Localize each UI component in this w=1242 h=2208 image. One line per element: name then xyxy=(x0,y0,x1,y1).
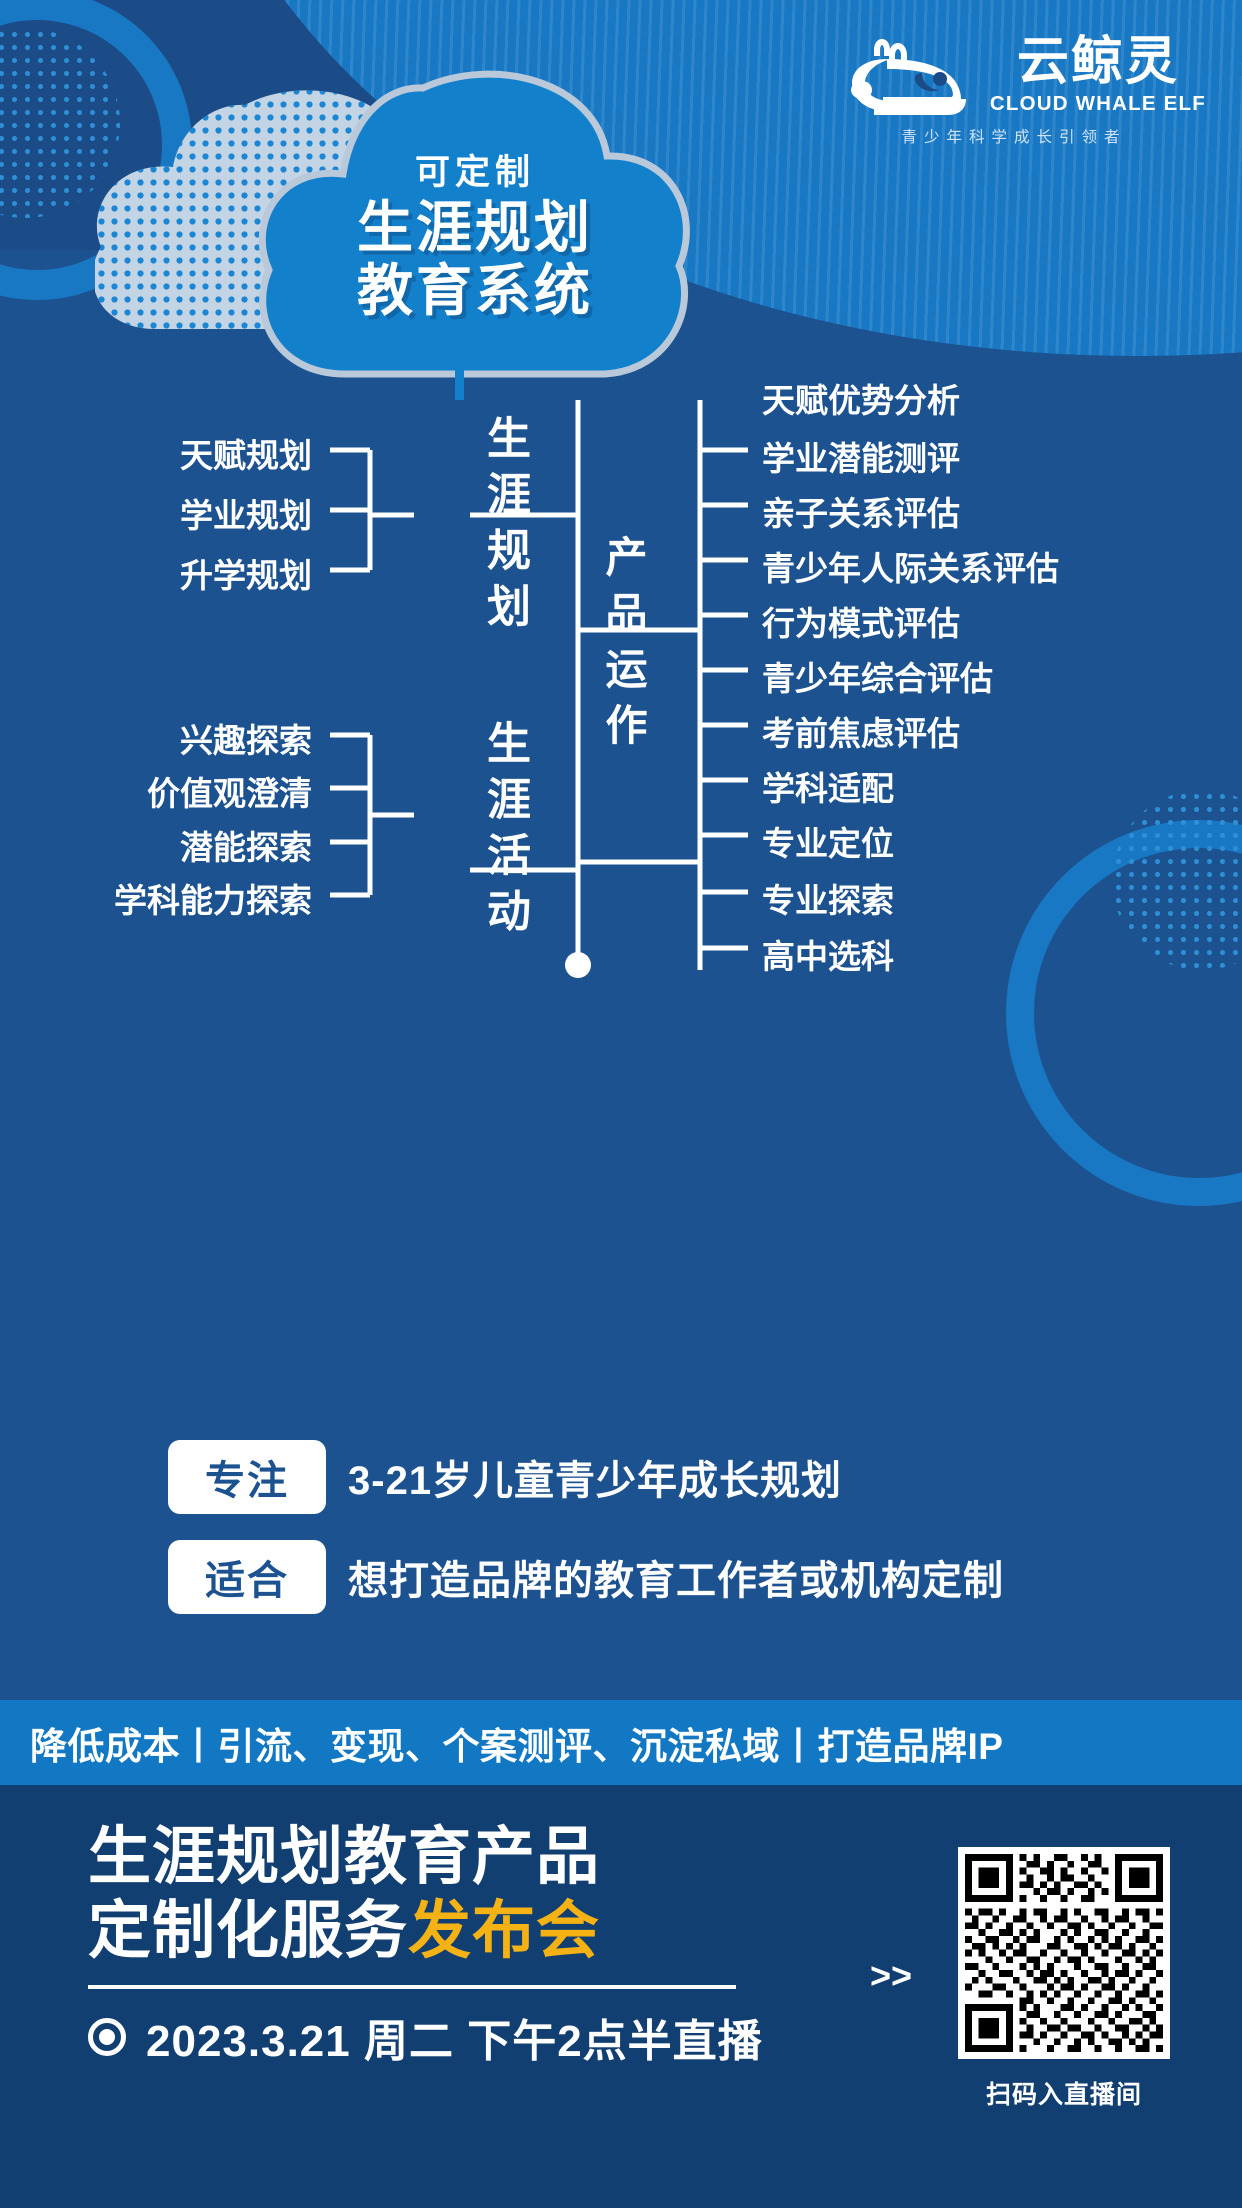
arrows-icon: >> xyxy=(870,1955,912,1997)
badge-text-audience: 想打造品牌的教育工作者或机构定制 xyxy=(348,1548,1004,1606)
tree-item-activity-2: 价值观澄清 xyxy=(147,767,312,815)
whale-icon xyxy=(848,37,976,115)
event-footer: 生涯规划教育产品 定制化服务发布会 2023.3.21 周二 下午2点半直播 >… xyxy=(0,1785,1242,2208)
tree-node-activity: 生涯活动 xyxy=(482,720,526,944)
cloud-title: 生涯规划 教育系统 xyxy=(255,198,695,323)
tree-item-career-1: 天赋规划 xyxy=(180,429,312,477)
badge-row-audience: 适合 想打造品牌的教育工作者或机构定制 xyxy=(168,1540,1242,1614)
tree-item-product-9: 专业定位 xyxy=(762,817,894,865)
badge-chip-focus: 专注 xyxy=(168,1440,326,1514)
cloud-title-line1: 生涯规划 xyxy=(255,198,695,261)
tree-item-product-11: 高中选科 xyxy=(762,930,894,978)
career-tree-diagram: 天赋规划 学业规划 升学规划 兴趣探索 价值观澄清 潜能探索 学科能力探索 生涯… xyxy=(0,400,1242,1400)
event-date-row: 2023.3.21 周二 下午2点半直播 xyxy=(88,2005,788,2069)
event-title-line2-plain: 定制化服务 xyxy=(88,1894,408,1967)
tree-item-career-3: 升学规划 xyxy=(180,549,312,597)
badge-text-focus: 3-21岁儿童青少年成长规划 xyxy=(348,1448,842,1506)
badge-chip-audience: 适合 xyxy=(168,1540,326,1614)
tree-node-career: 生涯规划 xyxy=(482,415,526,639)
event-title-highlight: 发布会 xyxy=(408,1894,600,1967)
event-title-line2: 定制化服务发布会 xyxy=(88,1894,788,1968)
tree-item-product-6: 青少年综合评估 xyxy=(762,652,993,700)
tree-item-career-2: 学业规划 xyxy=(180,489,312,537)
cloud-header: 可定制 生涯规划 教育系统 xyxy=(95,70,715,400)
tree-item-product-1: 天赋优势分析 xyxy=(762,374,960,422)
brand-name-cn: 云鲸灵 xyxy=(1017,36,1179,88)
cloud-subtitle: 可定制 xyxy=(255,144,695,195)
qr-caption: 扫码入直播间 xyxy=(958,2075,1170,2111)
tree-item-activity-3: 潜能探索 xyxy=(180,821,312,869)
tree-item-product-5: 行为模式评估 xyxy=(762,597,960,645)
brand-logo: 云鲸灵 CLOUD WHALE ELF 青少年科学成长引领者 xyxy=(816,36,1206,147)
highlight-badges: 专注 3-21岁儿童青少年成长规划 适合 想打造品牌的教育工作者或机构定制 xyxy=(0,1440,1242,1640)
divider-rule xyxy=(88,1985,736,1989)
tree-item-product-4: 青少年人际关系评估 xyxy=(762,542,1059,590)
event-info: 生涯规划教育产品 定制化服务发布会 2023.3.21 周二 下午2点半直播 xyxy=(88,1820,788,2069)
qr-code-image xyxy=(965,1854,1163,2052)
benefits-strip-text: 降低成本丨引流、变现、个案测评、沉淀私域丨打造品牌IP xyxy=(30,1716,1003,1770)
benefits-strip: 降低成本丨引流、变现、个案测评、沉淀私域丨打造品牌IP xyxy=(0,1700,1242,1785)
qr-block: >> xyxy=(958,1847,1170,2111)
tree-item-product-10: 专业探索 xyxy=(762,874,894,922)
qr-code[interactable] xyxy=(958,1847,1170,2059)
tree-item-activity-1: 兴趣探索 xyxy=(180,714,312,762)
poster-root: 云鲸灵 CLOUD WHALE ELF 青少年科学成长引领者 可定制 xyxy=(0,0,1242,2208)
tree-item-product-3: 亲子关系评估 xyxy=(762,487,960,535)
badge-row-focus: 专注 3-21岁儿童青少年成长规划 xyxy=(168,1440,1242,1514)
cloud-title-line2: 教育系统 xyxy=(255,261,695,324)
bullet-dot-icon xyxy=(88,2018,126,2056)
tree-item-product-2: 学业潜能测评 xyxy=(762,432,960,480)
tree-item-product-7: 考前焦虑评估 xyxy=(762,707,960,755)
event-date: 2023.3.21 周二 下午2点半直播 xyxy=(146,2005,763,2069)
tree-item-activity-4: 学科能力探索 xyxy=(114,874,312,922)
brand-name-en: CLOUD WHALE ELF xyxy=(990,92,1206,116)
brand-tagline: 青少年科学成长引领者 xyxy=(816,125,1206,147)
tree-item-product-8: 学科适配 xyxy=(762,762,894,810)
tree-node-product: 产品运作 xyxy=(602,535,644,759)
event-title-line1: 生涯规划教育产品 xyxy=(88,1820,788,1894)
